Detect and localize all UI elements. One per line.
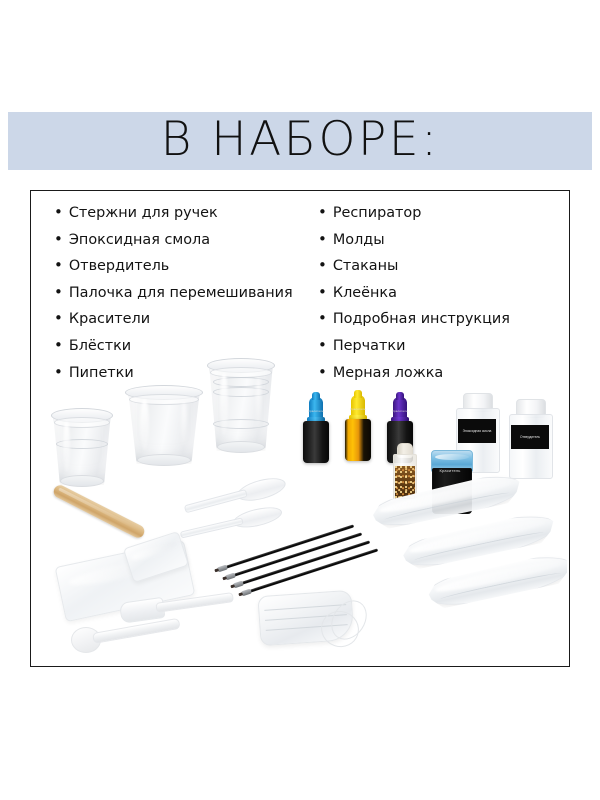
dye-bottle-label: Краситель [389, 409, 411, 413]
cup-base [137, 454, 191, 466]
bullet-icon: • [318, 306, 327, 332]
pipette-tube [180, 517, 244, 538]
pen-refill [242, 540, 370, 585]
list-item: •Респиратор [318, 200, 560, 227]
cup-base [217, 441, 265, 453]
refill-tip [233, 581, 244, 588]
list-item-label: Красители [69, 307, 150, 333]
page-title: В НАБОРЕ: [8, 108, 592, 170]
glitter-vial [393, 443, 415, 499]
product-infographic: В НАБОРЕ: •Стержни для ручек •Эпоксидная… [0, 0, 600, 800]
cup-medium-image [128, 390, 198, 462]
pigment-jar-label: Краситель [431, 468, 469, 473]
list-item-label: Отвердитель [69, 254, 169, 280]
list-item: •Стаканы [318, 253, 560, 280]
cup-rim-inner [54, 417, 110, 428]
list-item: •Палочка для перемешивания [54, 280, 318, 307]
respirator-mask [259, 593, 351, 649]
bullet-icon: • [318, 280, 327, 306]
glitter-fill [395, 466, 415, 499]
list-item-label: Молды [333, 228, 385, 254]
refill-tip [225, 573, 236, 580]
cup-highlight [140, 399, 149, 451]
resin-bottle-label: Эпоксидная смола [458, 419, 496, 443]
wooden-stirring-stick [51, 483, 146, 540]
cup-stack-image [209, 363, 271, 449]
bullet-icon: • [54, 200, 63, 226]
bullet-icon: • [54, 306, 63, 332]
cup-base [60, 475, 103, 487]
dye-bottle-blue: Краситель [303, 397, 329, 463]
cup-small-image [53, 413, 109, 483]
bullet-icon: • [318, 253, 327, 279]
dye-bottle-label: Краситель [347, 407, 369, 411]
list-item-label: Подробная инструкция [333, 307, 510, 333]
cup-highlight [220, 373, 228, 435]
list-item-label: Респиратор [333, 201, 421, 227]
list-item-label: Стержни для ручек [69, 201, 218, 227]
cup-highlight [181, 402, 187, 447]
refill-tip [217, 565, 228, 572]
bullet-icon: • [54, 227, 63, 253]
list-item-label: Палочка для перемешивания [69, 281, 293, 307]
bullet-icon: • [318, 227, 327, 253]
cup-rim-inner [129, 394, 198, 405]
resin-bottle-hardener: Отвердитель [509, 399, 551, 477]
list-item: •Эпоксидная смола [54, 227, 318, 254]
bottle-body [303, 421, 329, 463]
pen-refill [250, 548, 378, 593]
list-item: •Клеёнка [318, 280, 560, 307]
product-photo-area: Краситель Краситель Краситель Эпоксидная… [31, 355, 567, 663]
resin-bottle-label: Отвердитель [511, 425, 549, 449]
list-item: •Молды [318, 227, 560, 254]
bottle-body [345, 419, 371, 461]
dye-bottle-label: Краситель [305, 409, 327, 413]
pen-refill [234, 532, 362, 577]
list-item: •Подробная инструкция [318, 306, 560, 333]
bullet-icon: • [318, 200, 327, 226]
bullet-icon: • [54, 280, 63, 306]
list-item-label: Клеёнка [333, 281, 397, 307]
bullet-icon: • [54, 253, 63, 279]
list-item-label: Стаканы [333, 254, 399, 280]
list-item: •Стержни для ручек [54, 200, 318, 227]
cup-highlight [63, 421, 70, 471]
dye-bottle-yellow: Краситель [345, 395, 371, 461]
refill-tip [241, 589, 252, 596]
list-item: •Отвердитель [54, 253, 318, 280]
list-item: •Красители [54, 306, 318, 333]
pipette-tube [184, 489, 248, 513]
list-item-label: Эпоксидная смола [69, 228, 210, 254]
